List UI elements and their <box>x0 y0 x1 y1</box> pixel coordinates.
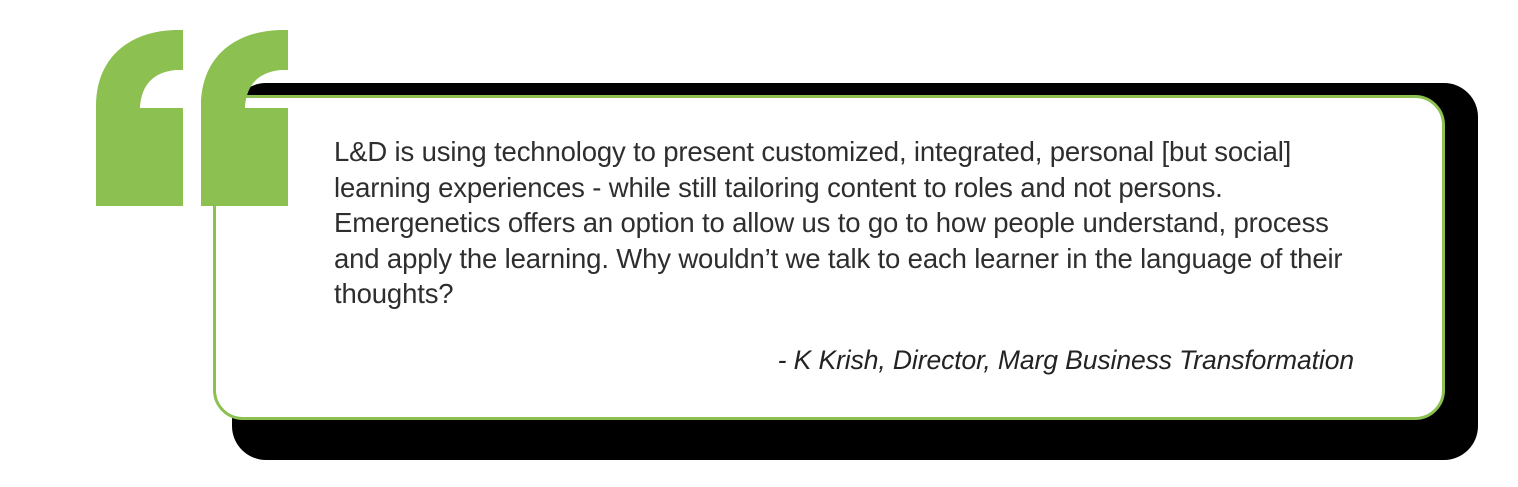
quote-card-content: L&D is using technology to present custo… <box>334 134 1370 399</box>
quote-card-stage: L&D is using technology to present custo… <box>0 0 1518 487</box>
quote-attribution: - K Krish, Director, Marg Business Trans… <box>334 312 1370 377</box>
quote-body-text: L&D is using technology to present custo… <box>334 134 1370 312</box>
quote-card: L&D is using technology to present custo… <box>213 95 1445 420</box>
